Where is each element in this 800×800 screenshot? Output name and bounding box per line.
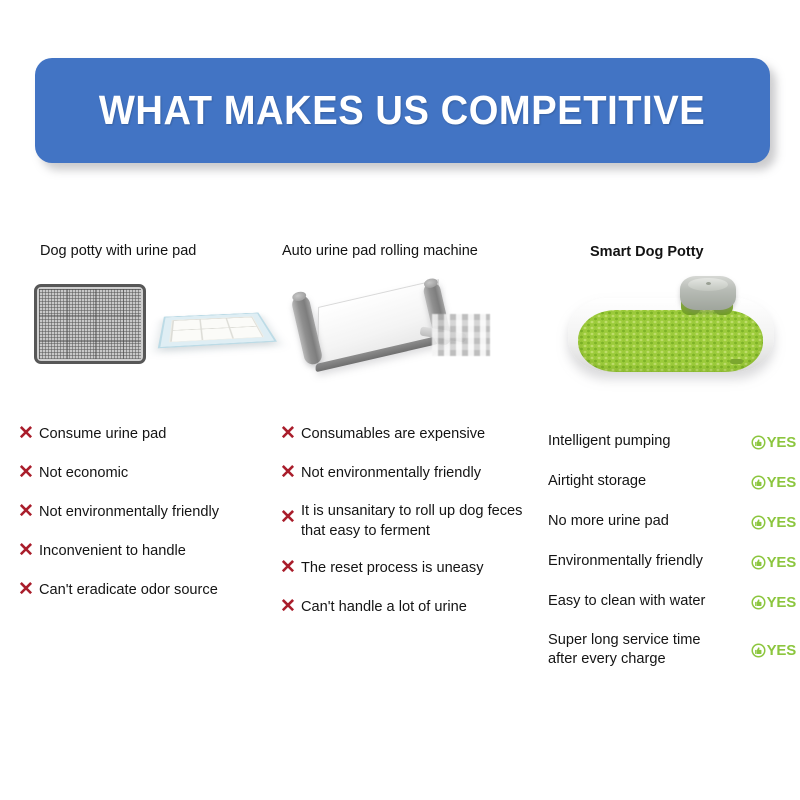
- cross-icon: ✕: [280, 424, 301, 444]
- list-item-label: Easy to clean with water: [548, 592, 705, 612]
- cross-icon: ✕: [18, 463, 39, 483]
- cross-icon: ✕: [280, 463, 301, 483]
- status-badge: YES: [751, 474, 796, 491]
- list-item: ✕ Not economic: [18, 463, 270, 502]
- list-item-label: Airtight storage: [548, 472, 646, 492]
- list-item-label: Can't handle a lot of urine: [301, 597, 538, 617]
- list-item: ✕ Not environmentally friendly: [18, 502, 270, 541]
- cross-icon: ✕: [18, 580, 39, 600]
- urine-pad-icon: [162, 296, 268, 360]
- list-item-label: Can't eradicate odor source: [39, 580, 270, 600]
- list-item: ✕ Inconvenient to handle: [18, 541, 270, 580]
- list-item-label: Not environmentally friendly: [39, 502, 270, 522]
- product-image-smart-dog-potty-green-mat: [556, 272, 796, 384]
- status-badge-label: YES: [767, 474, 796, 491]
- column-header-smart-dog-potty: Smart Dog Potty: [590, 244, 704, 260]
- list-item: Intelligent pumping YES: [548, 422, 796, 462]
- status-badge-label: YES: [767, 434, 796, 451]
- list-item: ✕ Can't handle a lot of urine: [280, 597, 538, 636]
- list-item-label: Environmentally friendly: [548, 552, 703, 572]
- rolling-machine-pixelated-region: [432, 314, 490, 356]
- cross-icon: ✕: [280, 502, 301, 534]
- status-badge: YES: [751, 434, 796, 451]
- list-item-label: Not environmentally friendly: [301, 463, 538, 483]
- cross-icon: ✕: [18, 541, 39, 561]
- list-item: ✕ Not environmentally friendly: [280, 463, 538, 502]
- tray-mesh-pattern: [39, 289, 141, 359]
- status-badge-label: YES: [767, 514, 796, 531]
- feature-list-smart-dog-potty: Intelligent pumping YES Airtight storage…: [548, 422, 796, 678]
- list-item-label: Not economic: [39, 463, 270, 483]
- urine-pad-quilting: [169, 316, 264, 342]
- list-item: Easy to clean with water YES: [548, 582, 796, 622]
- column-header-auto-urine-pad-rolling-machine: Auto urine pad rolling machine: [282, 243, 478, 259]
- list-item: Environmentally friendly YES: [548, 542, 796, 582]
- list-item: ✕ Can't eradicate odor source: [18, 580, 270, 619]
- potty-drain-hole: [730, 359, 743, 364]
- roller-cap: [291, 290, 307, 302]
- grid-tray-icon: [34, 284, 146, 364]
- thumbs-up-circle-icon: [751, 555, 766, 570]
- header-banner: WHAT MAKES US COMPETITIVE: [35, 58, 770, 163]
- product-image-dog-potty-grid-tray-with-urine-pad: [22, 280, 272, 380]
- pump-module-indicator: [706, 282, 711, 285]
- thumbs-up-circle-icon: [751, 515, 766, 530]
- potty-white-base: [568, 298, 774, 372]
- cross-icon: ✕: [280, 558, 301, 578]
- list-item-label: Super long service time after every char…: [548, 631, 726, 670]
- list-item: ✕ It is unsanitary to roll up dog feces …: [280, 502, 538, 558]
- feature-list-dog-potty-with-urine-pad: ✕ Consume urine pad ✕ Not economic ✕ Not…: [18, 424, 270, 619]
- page-title: WHAT MAKES US COMPETITIVE: [99, 87, 705, 134]
- urine-pad-surface: [158, 313, 277, 349]
- status-badge: YES: [751, 594, 796, 611]
- potty-pump-module: [680, 276, 736, 310]
- thumbs-up-circle-icon: [751, 595, 766, 610]
- list-item-label: Intelligent pumping: [548, 432, 671, 452]
- status-badge-label: YES: [767, 642, 796, 659]
- thumbs-up-circle-icon: [751, 475, 766, 490]
- status-badge-label: YES: [767, 554, 796, 571]
- list-item: No more urine pad YES: [548, 502, 796, 542]
- product-image-auto-urine-pad-rolling-machine: [292, 278, 542, 380]
- cross-icon: ✕: [18, 502, 39, 522]
- list-item-label: It is unsanitary to roll up dog feces th…: [301, 502, 538, 541]
- roller-cap: [423, 277, 439, 289]
- cross-icon: ✕: [280, 597, 301, 617]
- potty-green-textured-mat: [578, 310, 763, 372]
- list-item: ✕ Consumables are expensive: [280, 424, 538, 463]
- list-item: Super long service time after every char…: [548, 622, 796, 678]
- status-badge-label: YES: [767, 594, 796, 611]
- list-item: ✕ Consume urine pad: [18, 424, 270, 463]
- feature-list-auto-urine-pad-rolling-machine: ✕ Consumables are expensive ✕ Not enviro…: [280, 424, 538, 636]
- column-header-dog-potty-with-urine-pad: Dog potty with urine pad: [40, 243, 196, 259]
- list-item: ✕ The reset process is uneasy: [280, 558, 538, 597]
- status-badge: YES: [751, 514, 796, 531]
- list-item: Airtight storage YES: [548, 462, 796, 502]
- list-item-label: No more urine pad: [548, 512, 669, 532]
- status-badge: YES: [751, 642, 796, 659]
- cross-icon: ✕: [18, 424, 39, 444]
- thumbs-up-circle-icon: [751, 435, 766, 450]
- thumbs-up-circle-icon: [751, 643, 766, 658]
- list-item-label: Consume urine pad: [39, 424, 270, 444]
- list-item-label: Consumables are expensive: [301, 424, 538, 444]
- status-badge: YES: [751, 554, 796, 571]
- list-item-label: The reset process is uneasy: [301, 558, 538, 578]
- list-item-label: Inconvenient to handle: [39, 541, 270, 561]
